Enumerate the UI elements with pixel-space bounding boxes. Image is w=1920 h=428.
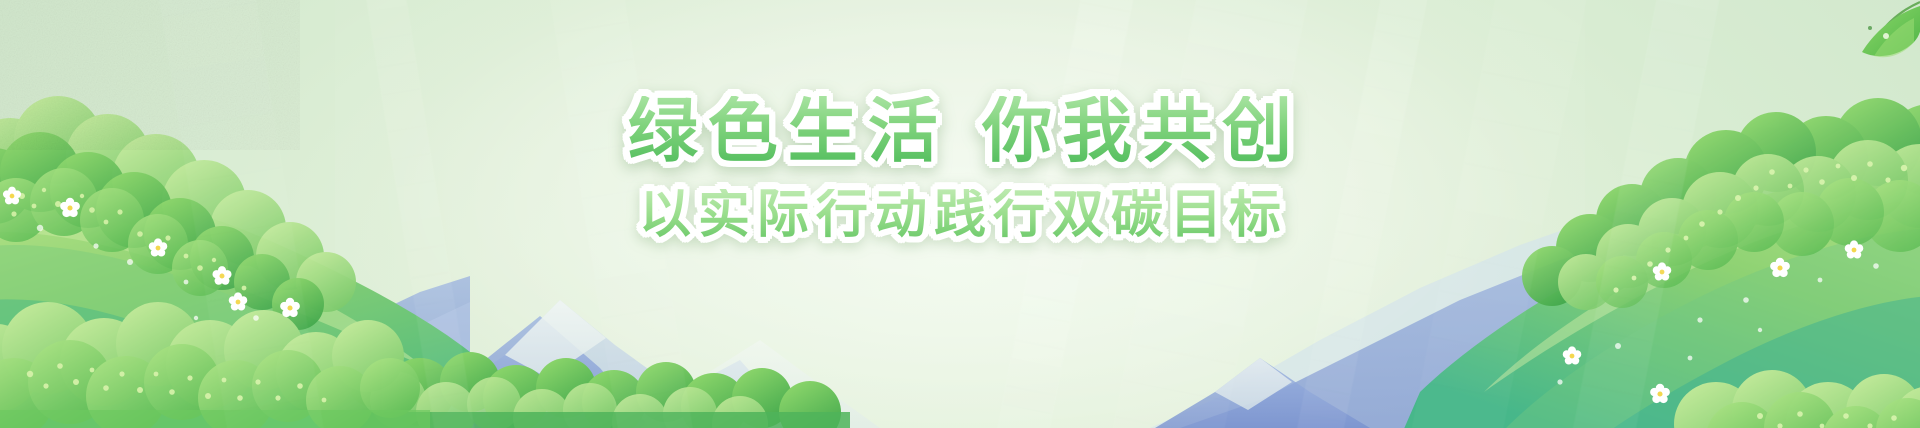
leaf-sprig-icon (1862, 2, 1920, 57)
left-bottom-bush-cluster (0, 302, 430, 428)
green-life-banner: 绿色生活 你我共创 以实际行动践行双碳目标 (0, 0, 1920, 428)
landscape-scene (0, 0, 1920, 428)
